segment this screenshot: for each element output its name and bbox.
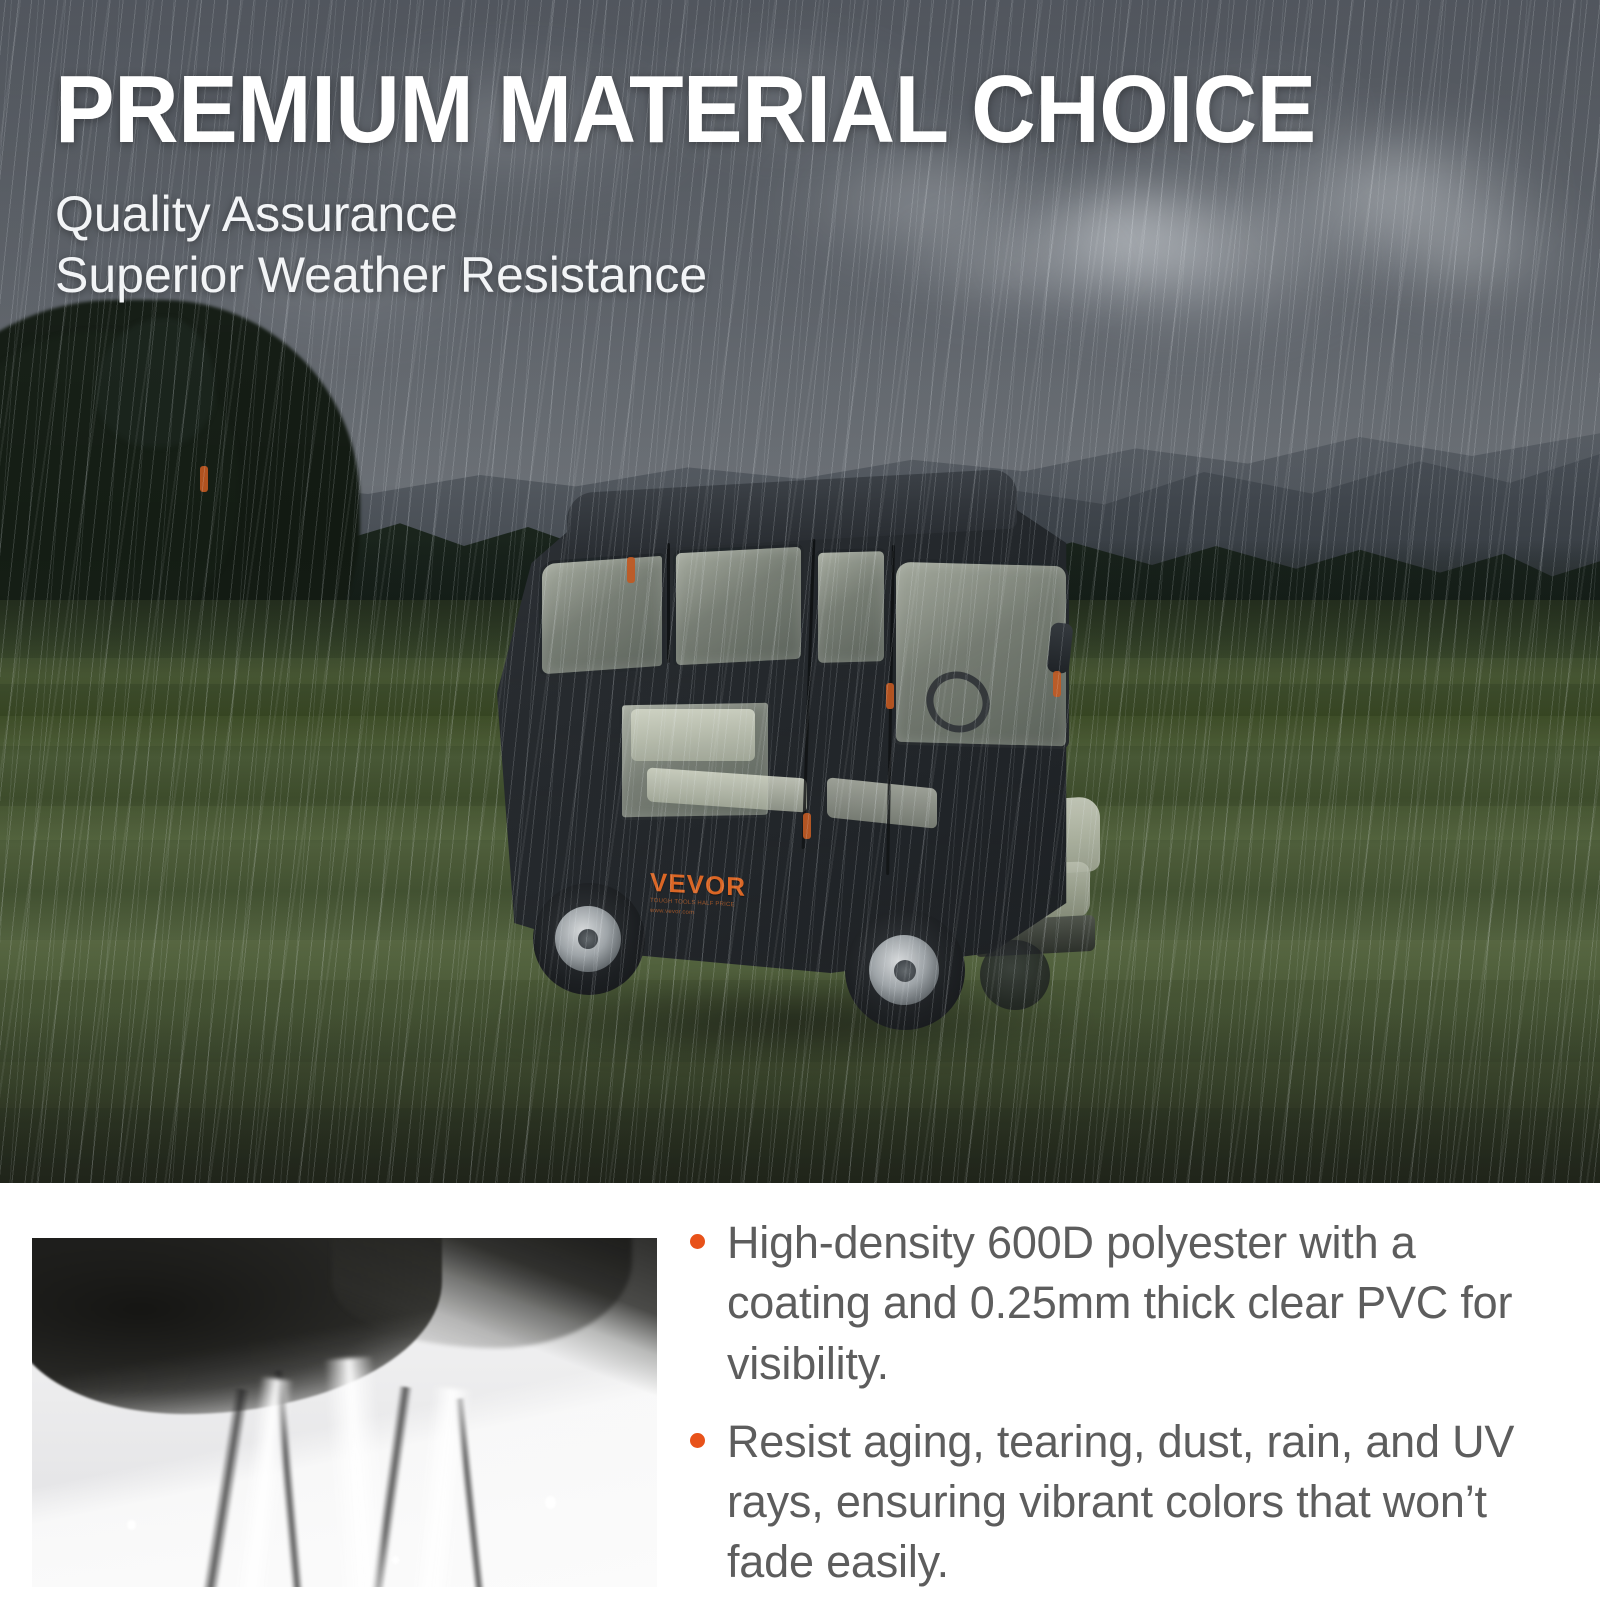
- feature-panel: High-density 600D polyester with a coati…: [0, 1183, 1600, 1600]
- hero-subtitle-line-1: Quality Assurance: [55, 158, 1355, 245]
- feature-bullet-list: High-density 600D polyester with a coati…: [690, 1213, 1535, 1611]
- cart-seat: [631, 709, 755, 761]
- zipper-pull: [1053, 671, 1061, 697]
- hero-photo: VEVOR TOUGH TOOLS HALF PRICE www.vevor.c…: [0, 0, 1600, 1183]
- side-mirror: [1046, 622, 1073, 674]
- cart-tire: [980, 940, 1050, 1010]
- pvc-window-middle: [673, 544, 804, 669]
- hero-subtitle-line-2: Superior Weather Resistance: [55, 245, 1355, 306]
- vevor-brand-print: VEVOR TOUGH TOOLS HALF PRICE www.vevor.c…: [650, 869, 770, 921]
- page-title: PREMIUM MATERIAL CHOICE: [55, 62, 1264, 158]
- zipper-pull: [200, 466, 208, 492]
- vevor-logo-text: VEVOR: [650, 869, 770, 901]
- feature-bullet-text: High-density 600D polyester with a coati…: [727, 1213, 1535, 1394]
- pvc-window-front: [815, 548, 887, 666]
- zipper-pull: [803, 813, 811, 839]
- hero-text-block: PREMIUM MATERIAL CHOICE Quality Assuranc…: [55, 62, 1355, 306]
- list-item: High-density 600D polyester with a coati…: [690, 1213, 1535, 1394]
- pvc-specular-dot: [127, 1520, 136, 1530]
- zipper-pull: [627, 557, 635, 583]
- bullet-dot-icon: [690, 1234, 705, 1249]
- pvc-window-rear: [539, 553, 665, 678]
- cart-hub: [578, 929, 598, 949]
- pvc-material-thumbnail: [32, 1238, 657, 1587]
- product-feature-page: VEVOR TOUGH TOOLS HALF PRICE www.vevor.c…: [0, 0, 1600, 1600]
- pvc-specular-dot: [545, 1496, 556, 1509]
- bullet-dot-icon: [690, 1433, 705, 1448]
- pvc-specular-dot: [392, 1556, 399, 1564]
- cart-hub: [894, 960, 916, 982]
- zipper-pull: [886, 683, 894, 709]
- zipper-seam: [667, 543, 670, 663]
- list-item: Resist aging, tearing, dust, rain, and U…: [690, 1412, 1535, 1593]
- feature-bullet-text: Resist aging, tearing, dust, rain, and U…: [727, 1412, 1535, 1593]
